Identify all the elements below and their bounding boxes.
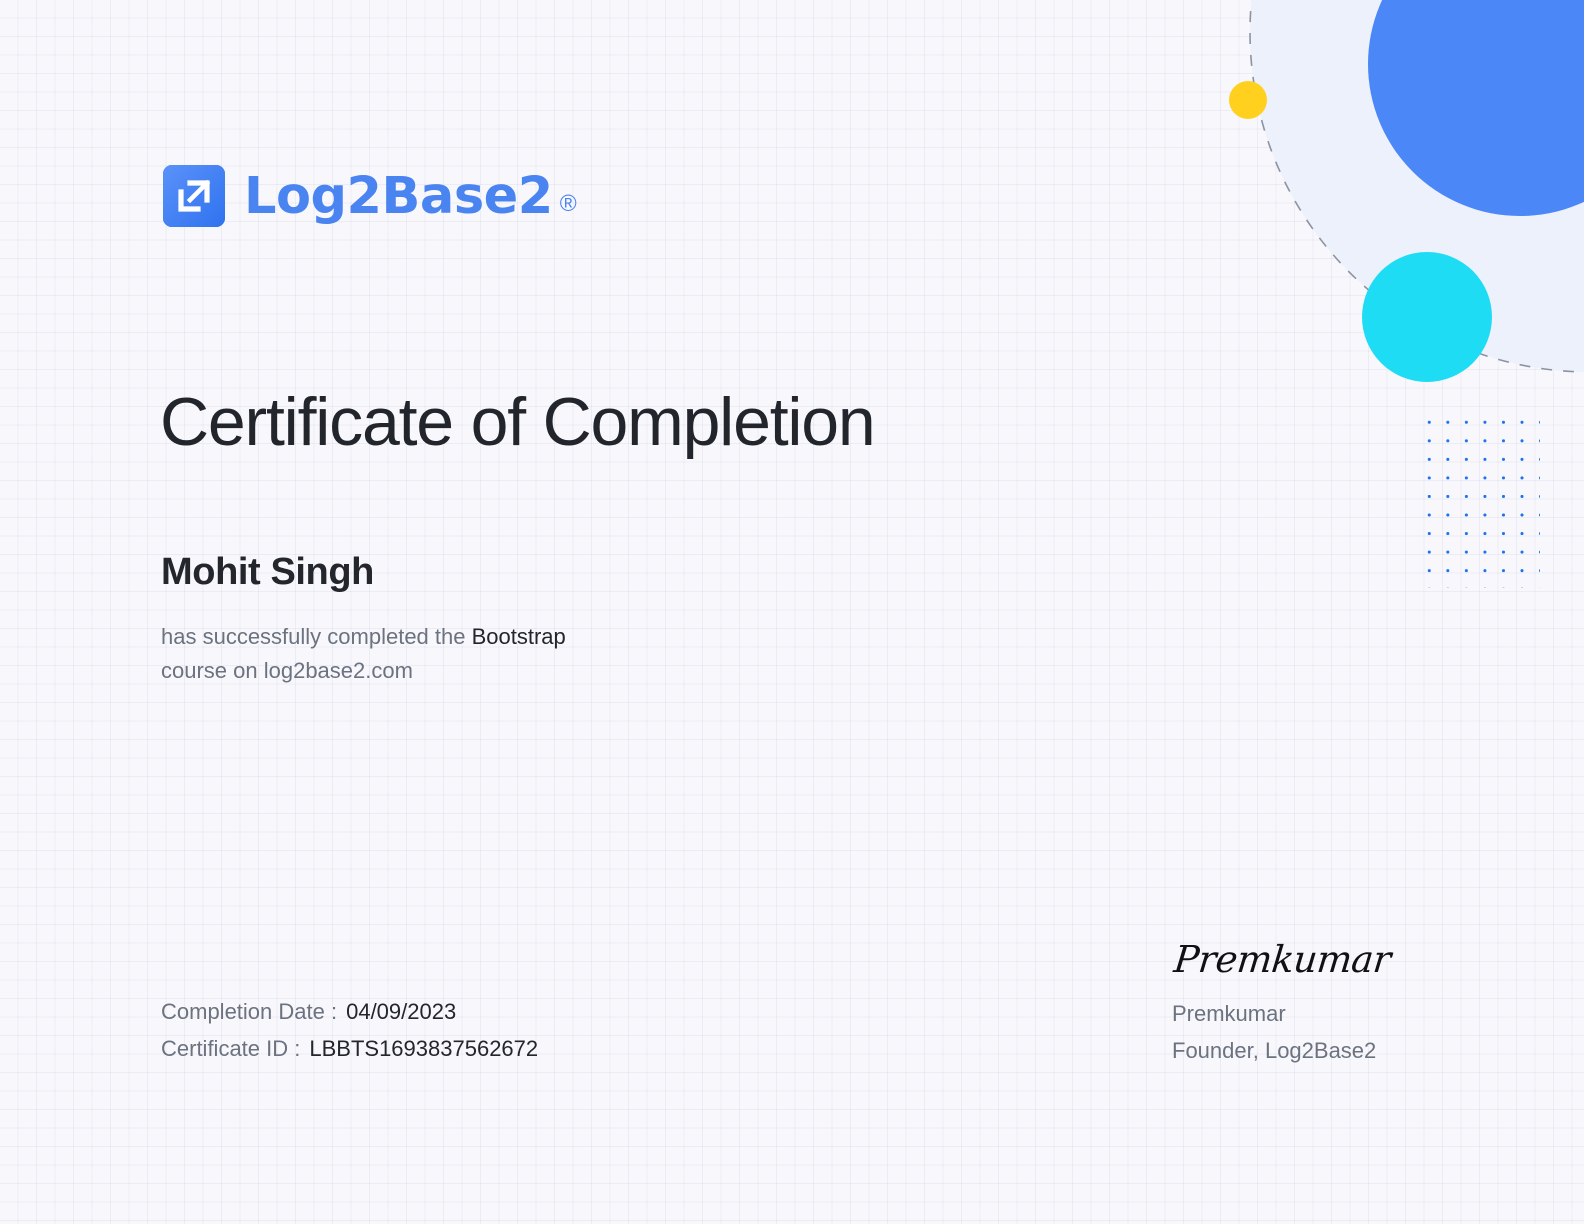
signature-block: Premkumar Premkumar Founder, Log2Base2: [1172, 940, 1388, 1069]
certificate-canvas: Log2Base2 ® Certificate of Completion Mo…: [0, 0, 1584, 1224]
statement-prefix: has successfully completed the: [161, 624, 472, 649]
completion-date-label: Completion Date :: [161, 999, 337, 1024]
course-name: Bootstrap: [472, 624, 566, 649]
completion-statement: has successfully completed the Bootstrap…: [161, 620, 566, 688]
completion-statement-line-2: course on log2base2.com: [161, 654, 566, 688]
certificate-id-label: Certificate ID :: [161, 1036, 300, 1061]
signature-script: Premkumar: [1172, 940, 1392, 981]
brand-wordmark: Log2Base2 ®: [244, 171, 577, 222]
certificate-meta: Completion Date :04/09/2023 Certificate …: [161, 993, 538, 1067]
tinted-disc: [1250, 0, 1584, 372]
registered-trademark-icon: ®: [560, 190, 577, 217]
brand-header: Log2Base2 ®: [163, 165, 577, 227]
certificate-id-value: LBBTS1693837562672: [309, 1036, 538, 1061]
decorative-shapes: [1064, 0, 1584, 620]
recipient-name: Mohit Singh: [161, 551, 374, 594]
signer-name: Premkumar: [1172, 995, 1388, 1032]
yellow-dot: [1229, 81, 1267, 119]
blue-circle: [1368, 0, 1584, 216]
expand-arrow-icon: [163, 165, 225, 227]
page-title: Certificate of Completion: [160, 383, 875, 461]
brand-wordmark-text: Log2Base2: [244, 171, 553, 222]
certificate-id-row: Certificate ID :LBBTS1693837562672: [161, 1030, 538, 1067]
dot-matrix-decoration: [1415, 408, 1540, 588]
completion-date-value: 04/09/2023: [346, 999, 456, 1024]
cyan-circle: [1362, 252, 1492, 382]
completion-date-row: Completion Date :04/09/2023: [161, 993, 538, 1030]
signer-role: Founder, Log2Base2: [1172, 1032, 1388, 1069]
completion-statement-line-1: has successfully completed the Bootstrap: [161, 620, 566, 654]
